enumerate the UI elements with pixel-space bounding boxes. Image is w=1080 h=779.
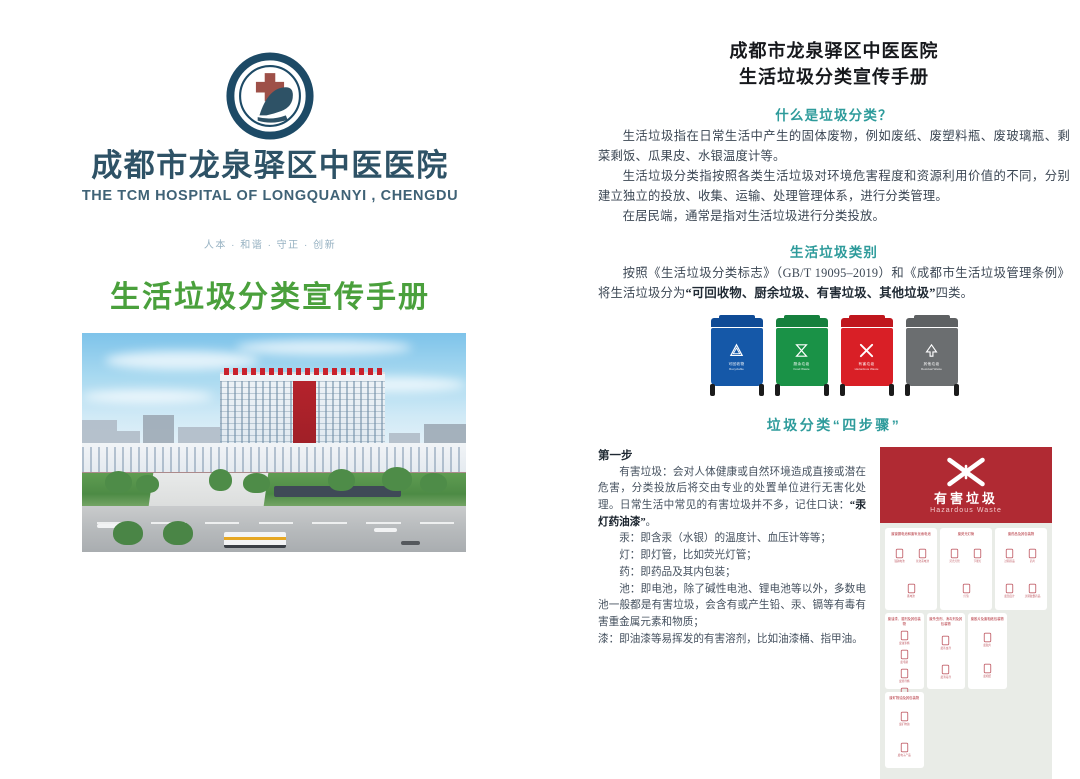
spray-can-icon: [939, 634, 952, 647]
bin-recyclable: 可回收物 Recyclable: [711, 318, 763, 397]
poster-item: 废相纸: [977, 662, 998, 679]
poster-item: 镍镉电池: [889, 547, 910, 564]
right-page-content: 成都市龙泉驿区中医医院 生活垃圾分类宣传手册 什么是垃圾分类？ 生活垃圾指在日常…: [540, 0, 1080, 764]
step-one-item: 漆：即油漆等易挥发的有害溶剂，比如油漆桶、指甲油。: [598, 632, 866, 649]
hospital-logo-wrap: [0, 52, 540, 140]
poster-item: 节能灯: [967, 547, 988, 564]
step-one-label: 第一步: [598, 447, 866, 463]
thermometer-icon: [1003, 582, 1016, 595]
step-one-item: 池：即电池，除了碱性电池、锂电池等以外，多数电池一般都是有害垃圾，会含有或产生铅…: [598, 582, 866, 632]
poster-item-caption: 荧光灯管: [949, 561, 959, 564]
poster-item-caption: 废消毒剂: [941, 677, 951, 680]
poster-card-title: 废杀虫剂、消毒剂及其包装物: [929, 617, 964, 626]
section2-text-post: 四类。: [936, 286, 974, 300]
poster-item: 废矿物油: [894, 710, 915, 727]
hospital-name-en: THE TCM HOSPITAL OF LONGQUANYI , CHENGDU: [0, 188, 540, 204]
step-one-row: 第一步 有害垃圾：会对人体健康或自然环境造成直接或潜在危害，分类投放后将交由专业…: [598, 447, 1070, 779]
bin-wheels: [776, 384, 828, 397]
poster-item-caption: 氧化汞电池: [916, 561, 929, 564]
poster-card: 废杀虫剂、消毒剂及其包装物废杀虫剂废消毒剂: [927, 613, 966, 689]
poster-card: 废镍镉电池和废氧化汞电池镍镉电池氧化汞电池蓄电池: [885, 528, 937, 610]
section-heading-what-is: 什么是垃圾分类？: [598, 104, 1070, 124]
step-one-body-post: 。: [646, 517, 657, 528]
poster-item-caption: 废电子产品: [898, 755, 911, 758]
capsule-icon: [1026, 582, 1039, 595]
poster-card-title: 废镍镉电池和废氧化汞电池: [891, 532, 931, 536]
photo-cloud: [236, 340, 413, 355]
poster-card-title: 废油漆、溶剂及其包装物: [887, 617, 922, 626]
poster-item-caption: 废胶片: [983, 645, 991, 648]
bottle-icon: [939, 663, 952, 676]
bin-label-en: Food Waste: [793, 367, 809, 371]
bin-hazardous: 有害垃圾 Hazardous Waste: [841, 318, 893, 397]
poster-item: 过期胶囊药品: [1022, 582, 1043, 599]
poster-card: 废荧光灯管荧光灯管节能灯灯泡: [940, 528, 992, 610]
residual-waste-icon: [923, 342, 940, 359]
step-one-item: 药：即药品及其内包装；: [598, 565, 866, 582]
poster-item: 药片: [1022, 547, 1043, 564]
poster-item: 蓄电池: [901, 582, 922, 599]
poster-card: 废矿物油及其包装物废矿物油废电子产品: [885, 692, 924, 768]
poster-card-title: 废矿物油及其包装物: [889, 696, 919, 700]
paint-can-icon: [898, 629, 911, 642]
mobile-icon: [898, 741, 911, 754]
poster-card-items: 废胶片废相纸: [970, 625, 1005, 686]
cover-title: 生活垃圾分类宣传手册: [0, 272, 540, 316]
poster-item-caption: 过期胶囊药品: [1025, 596, 1041, 599]
poster-item-caption: 废毛刷: [900, 662, 908, 665]
battery-icon: [893, 547, 906, 560]
brush-icon: [898, 648, 911, 661]
hazardous-waste-poster: 有害垃圾 Hazardous Waste 废镍镉电池和废氧化汞电池镍镉电池氧化汞…: [880, 447, 1052, 779]
hospital-building-photo: [82, 333, 466, 552]
poster-item-caption: 镍镉电池: [894, 561, 904, 564]
section-heading-categories: 生活垃圾类别: [598, 241, 1070, 261]
step-one-item: 汞：即含汞（水银）的温度计、血压计等等；: [598, 531, 866, 548]
film-roll-icon: [981, 631, 994, 644]
poster-item: 荧光灯管: [944, 547, 965, 564]
poster-title-en: Hazardous Waste: [880, 507, 1052, 514]
poster-card-items: 废杀虫剂废消毒剂: [929, 629, 964, 685]
right-page-title: 成都市龙泉驿区中医医院 生活垃圾分类宣传手册: [598, 38, 1070, 90]
recycle-triangle-icon: [728, 342, 745, 359]
section1-paragraph-1: 生活垃圾指在日常生活中产生的固体废物，例如废纸、废塑料瓶、废玻璃瓶、剩菜剩饭、瓜…: [598, 127, 1070, 167]
right-title-line1: 成都市龙泉驿区中医医院: [598, 38, 1070, 64]
poster-item: 灯泡: [956, 582, 977, 599]
poster-item: 废溶剂桶: [894, 667, 915, 684]
poster-item: 废毛刷: [894, 648, 915, 665]
bin-residual: 其他垃圾 Residual Waste: [906, 318, 958, 397]
bin-wheels: [711, 384, 763, 397]
bulb-icon: [971, 547, 984, 560]
hospital-tagline: 人本 · 和谐 · 守正 · 创新: [0, 236, 540, 251]
photo-main-tower: [220, 372, 385, 453]
poster-card-title: 废荧光灯管: [958, 532, 974, 536]
poster-item: 废消毒剂: [935, 663, 956, 680]
bin-food-waste: 厨余垃圾 Food Waste: [776, 318, 828, 397]
photo-bus: [224, 532, 285, 548]
poster-card: 废药品及其包装物过期药品药片废温度计过期胶囊药品: [995, 528, 1047, 610]
photo-rooftop-sign: [224, 368, 381, 375]
brochure-spread: 成都市龙泉驿区中医医院 THE TCM HOSPITAL OF LONGQUAN…: [0, 0, 1080, 764]
food-waste-icon: [793, 342, 810, 359]
bin-label-en: Residual Waste: [921, 367, 942, 371]
poster-item-grid: 废镍镉电池和废氧化汞电池镍镉电池氧化汞电池蓄电池废荧光灯管荧光灯管节能灯灯泡废药…: [880, 523, 1052, 773]
poster-item: 废杀虫剂: [935, 634, 956, 651]
bin-label-en: Recyclable: [729, 367, 744, 371]
poster-item-caption: 过期药品: [1004, 561, 1014, 564]
poster-header: 有害垃圾 Hazardous Waste: [880, 447, 1052, 524]
poster-card: 废油漆、溶剂及其包装物废油漆桶废毛刷废溶剂桶过期指甲油: [885, 613, 924, 689]
poster-item-caption: 废杀虫剂: [941, 648, 951, 651]
photo-paper-icon: [981, 662, 994, 675]
poster-card-items: 废矿物油废电子产品: [887, 704, 922, 765]
waste-bins-illustration: 可回收物 Recyclable 厨余垃圾 Food Waste: [598, 318, 1070, 397]
hazardous-x-icon: [858, 342, 875, 359]
section1-paragraph-3: 在居民端，通常是指对生活垃圾进行分类投放。: [598, 207, 1070, 227]
poster-item-caption: 废温度计: [1004, 596, 1014, 599]
hospital-circular-emblem-icon: [226, 52, 314, 140]
poster-item-caption: 废相纸: [983, 676, 991, 679]
poster-card-title: 废胶片及废相纸包装物: [971, 617, 1004, 621]
button-cell-icon: [916, 547, 929, 560]
bin-wheels: [906, 384, 958, 397]
step-one-body: 有害垃圾：会对人体健康或自然环境造成直接或潜在危害，分类投放后将交由专业的处置单…: [598, 465, 866, 532]
poster-item: 废胶片: [977, 631, 998, 648]
tube-light-icon: [948, 547, 961, 560]
poster-item: 废油漆桶: [894, 629, 915, 646]
poster-card-title: 废药品及其包装物: [1008, 532, 1034, 536]
poster-card-items: 过期药品药片废温度计过期胶囊药品: [997, 540, 1045, 607]
poster-item-caption: 药片: [1030, 561, 1035, 564]
poster-item: 过期药品: [999, 547, 1020, 564]
hospital-name-cn: 成都市龙泉驿区中医医院: [0, 148, 540, 184]
poster-card-items: 镍镉电池氧化汞电池蓄电池: [887, 540, 935, 607]
step-one-text-column: 第一步 有害垃圾：会对人体健康或自然环境造成直接或潜在危害，分类投放后将交由专业…: [598, 447, 866, 649]
poster-card-items: 荧光灯管节能灯灯泡: [942, 540, 990, 607]
section-heading-four-steps: 垃圾分类“四步骤”: [598, 415, 1070, 435]
bin-wheels: [841, 384, 893, 397]
poster-item-caption: 蓄电池: [907, 596, 915, 599]
cover-block: 成都市龙泉驿区中医医院 THE TCM HOSPITAL OF LONGQUAN…: [0, 0, 540, 600]
hazardous-x-icon: [943, 457, 989, 487]
poster-item: 氧化汞电池: [912, 547, 933, 564]
oil-can-icon: [898, 710, 911, 723]
left-page-cover: 成都市龙泉驿区中医医院 THE TCM HOSPITAL OF LONGQUAN…: [0, 0, 540, 764]
poster-item-caption: 废油漆桶: [899, 643, 909, 646]
step-one-body-pre: 有害垃圾：会对人体健康或自然环境造成直接或潜在危害，分类投放后将交由专业的处置单…: [598, 467, 866, 511]
battery-pack-icon: [905, 582, 918, 595]
poster-item: 废温度计: [999, 582, 1020, 599]
section2-text-bold: “可回收物、厨余垃圾、有害垃圾、其他垃圾”: [685, 286, 935, 300]
poster-card: 废胶片及废相纸包装物废胶片废相纸: [968, 613, 1007, 689]
right-title-line2: 生活垃圾分类宣传手册: [598, 64, 1070, 90]
poster-item-caption: 节能灯: [974, 561, 982, 564]
section1-paragraph-2: 生活垃圾分类指按照各类生活垃圾对环境危害程度和资源利用价值的不同，分别建立独立的…: [598, 167, 1070, 207]
bin-label-en: Hazardous Waste: [855, 367, 879, 371]
lamp-icon: [960, 582, 973, 595]
section2-paragraph: 按照《生活垃圾分类标志》（GB/T 19095–2019）和《成都市生活垃圾管理…: [598, 264, 1070, 304]
solvent-icon: [898, 667, 911, 680]
poster-item-caption: 灯泡: [963, 596, 968, 599]
poster-item: 废电子产品: [894, 741, 915, 758]
pill-pack-icon: [1026, 547, 1039, 560]
poster-title-cn: 有害垃圾: [880, 491, 1052, 507]
poster-item-caption: 废溶剂桶: [899, 681, 909, 684]
pill-bottle-icon: [1003, 547, 1016, 560]
poster-item-caption: 废矿物油: [899, 724, 909, 727]
step-one-item: 灯：即灯管，比如荧光灯管；: [598, 548, 866, 565]
